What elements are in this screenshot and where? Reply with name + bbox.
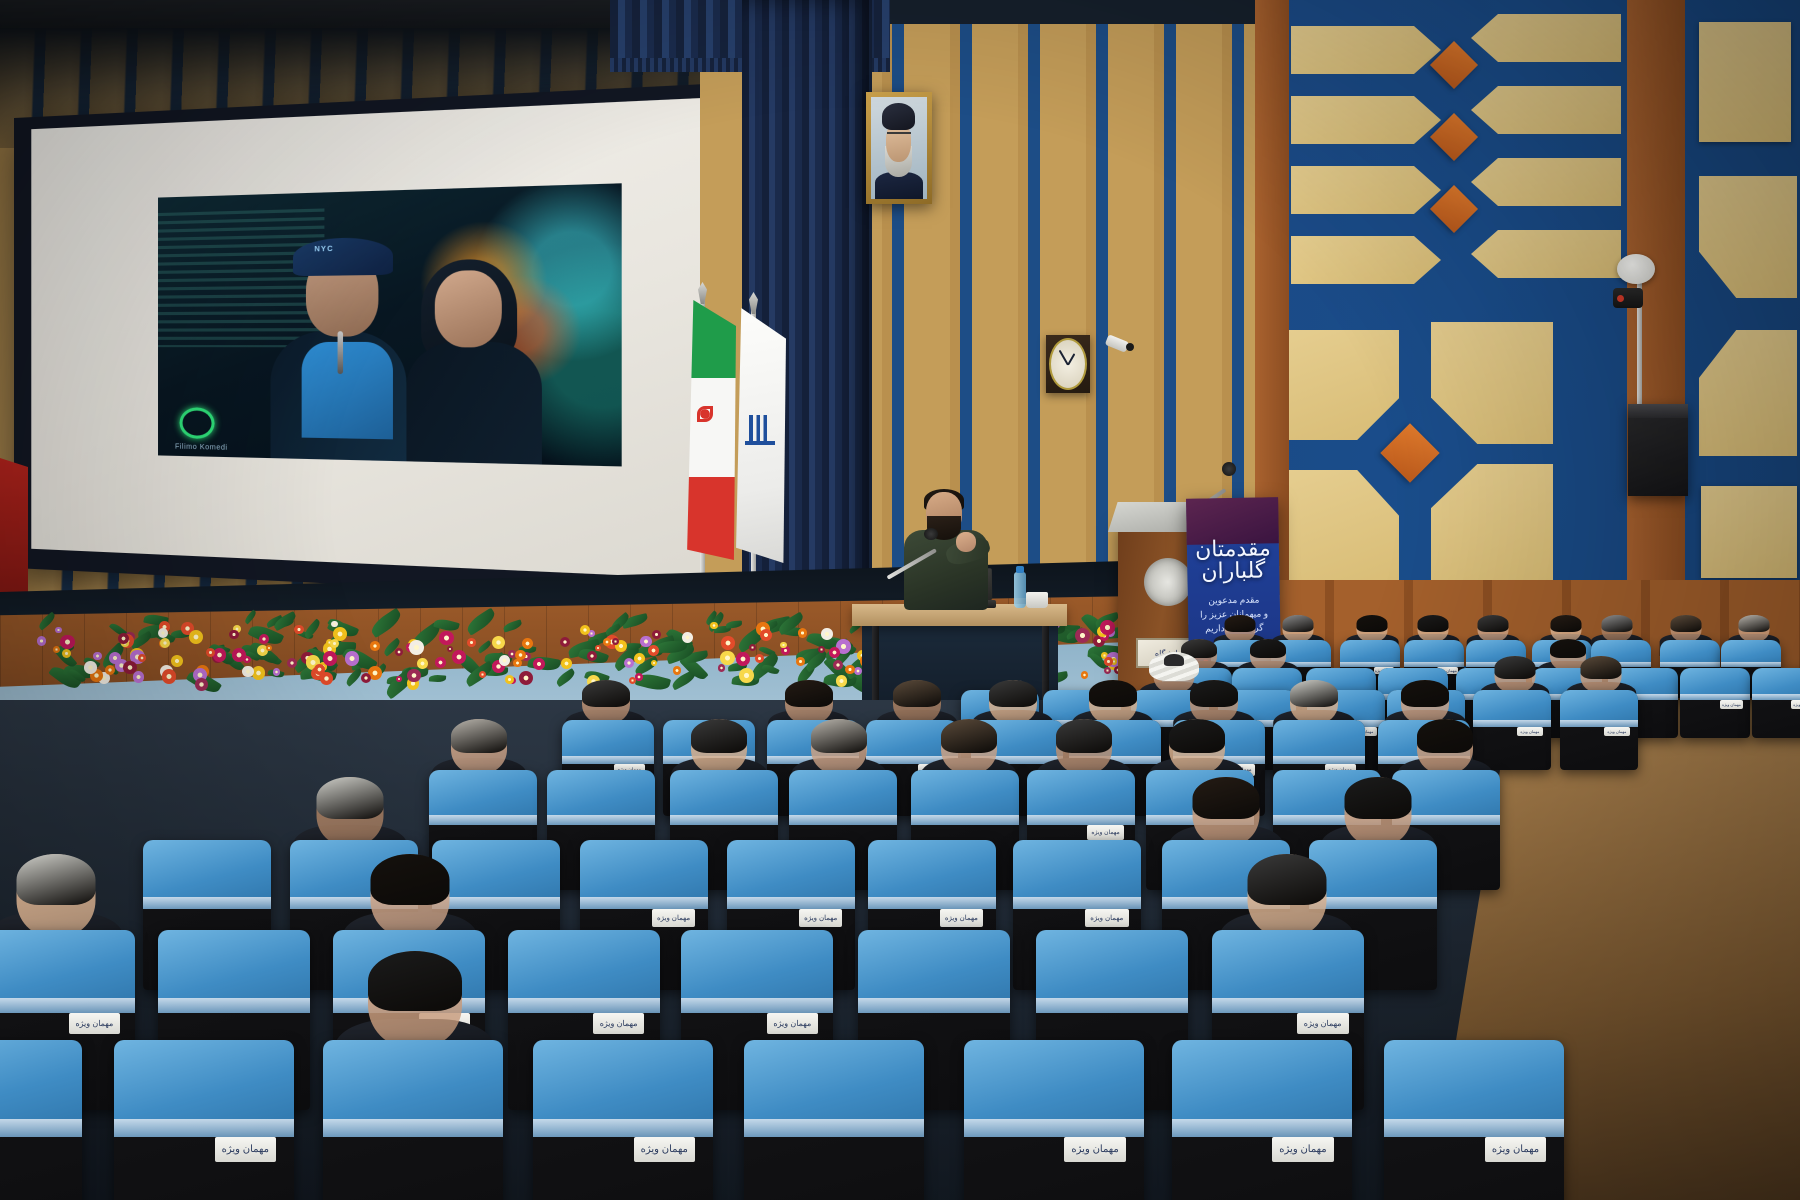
audience-seat[interactable]: مهمان ویژه <box>1560 690 1638 770</box>
garland-flower <box>1075 628 1090 643</box>
garland-flower <box>60 635 75 650</box>
garland-flower <box>243 656 250 663</box>
seat-cover <box>681 930 833 1013</box>
garland-leaf <box>726 620 743 628</box>
cap-logo-text: NYC <box>314 246 333 254</box>
garland-flower <box>492 636 505 649</box>
wall-panel <box>1291 26 1441 74</box>
garland-flower <box>624 658 634 668</box>
garland-flower <box>105 665 115 675</box>
seat-cover <box>580 840 708 909</box>
audience-hair <box>1671 615 1702 632</box>
seat-tag: مهمان ویژه <box>799 909 843 927</box>
garland-flower <box>1104 657 1112 665</box>
garland-flower <box>513 659 521 667</box>
screen-surface: NYC Filimo Komedi <box>31 97 730 580</box>
seat-cover <box>1212 930 1364 1013</box>
video-backdrop-stripes <box>158 208 324 347</box>
audience-hair <box>1550 615 1581 632</box>
audience-hair <box>1478 615 1509 632</box>
seat-cover <box>562 720 654 764</box>
seat-cover <box>1752 668 1800 700</box>
seat-tag: مهمان ویژه <box>1085 909 1129 927</box>
audience-hair <box>1417 615 1448 632</box>
logo-ring <box>179 407 214 439</box>
garland-flower <box>242 666 254 678</box>
audience-hair <box>1344 777 1411 820</box>
garland-flower <box>821 628 833 640</box>
seat-tag: مهمان ویژه <box>1272 1137 1333 1162</box>
garland-flower <box>395 648 403 656</box>
camera-body <box>1105 334 1130 352</box>
garland-flower <box>648 645 659 656</box>
audience-hair <box>811 719 867 753</box>
institution-flag <box>734 308 786 563</box>
garland-flower <box>294 625 303 634</box>
turban-cap <box>1164 654 1184 666</box>
garland-flower <box>118 633 129 644</box>
garland-flower <box>854 667 862 675</box>
audience-hair <box>317 777 384 820</box>
garland-leaf <box>429 674 446 682</box>
audience-hair <box>1169 719 1225 753</box>
seat-cover <box>429 770 537 825</box>
video-man-vest <box>302 342 393 439</box>
audience-hair <box>1417 719 1473 753</box>
audience-seat[interactable]: مهمان ویژه <box>1680 668 1750 738</box>
wall-panel <box>1291 236 1441 284</box>
wall-panel <box>1291 96 1441 144</box>
garland-leaf <box>243 610 258 625</box>
audience-hair <box>691 719 747 753</box>
audience-hair <box>371 854 450 905</box>
garland-leaf <box>368 608 404 638</box>
seat-cover <box>1680 668 1750 700</box>
seat-cover <box>547 770 655 825</box>
wifi-access-point-icon <box>1617 254 1655 284</box>
garland-flower <box>1081 671 1088 678</box>
seat-cover <box>1721 640 1781 667</box>
seat-cover <box>1013 840 1141 909</box>
garland-flower <box>407 669 420 682</box>
seat-cover <box>858 930 1010 1013</box>
audience-seat[interactable]: مهمان ویژه <box>964 1040 1144 1200</box>
garland-flower <box>833 660 843 670</box>
garland-flower <box>162 669 177 684</box>
garland-flower <box>718 664 726 672</box>
audience-hair <box>989 680 1037 707</box>
seat-cover <box>0 930 135 1013</box>
banner-sub-line: مقدم مدعوین <box>1192 593 1276 608</box>
audience-hair <box>785 680 833 707</box>
seat-cover <box>911 770 1019 825</box>
audience-hair <box>1580 656 1621 679</box>
audience-seat[interactable]: مهمان ویژه <box>533 1040 713 1200</box>
seat-cover <box>158 930 310 1013</box>
garland-flower <box>370 641 380 651</box>
seat-cover <box>1027 770 1135 825</box>
garland-flower <box>560 637 570 647</box>
seat-tag: مهمان ویژه <box>593 1013 645 1035</box>
garland-leaf <box>476 640 491 653</box>
camera-lens <box>1126 343 1134 351</box>
seat-tag: مهمان ویژه <box>1485 1137 1546 1162</box>
glasses-icon <box>887 132 912 140</box>
wall-panel <box>1471 230 1621 278</box>
audience-hair <box>1290 680 1338 707</box>
seat-tag: مهمان ویژه <box>1087 825 1124 839</box>
seat-cover <box>1404 640 1464 667</box>
seat-tag: مهمان ویژه <box>215 1137 276 1162</box>
garland-flower <box>417 658 428 669</box>
seat-cover <box>1340 640 1400 667</box>
garland-flower <box>760 629 772 641</box>
audience-seat[interactable]: مهمان ویژه <box>114 1040 294 1200</box>
garland-flower <box>195 678 208 691</box>
seat-cover <box>744 1040 924 1137</box>
mic-head <box>1222 462 1236 476</box>
projection-screen: NYC Filimo Komedi <box>14 82 746 604</box>
seat-cover <box>964 1040 1144 1137</box>
garland-flower <box>435 657 446 668</box>
seat-cover <box>508 930 660 1013</box>
clock-face <box>1049 338 1087 390</box>
right-wall <box>1255 0 1800 700</box>
audience-hair <box>1250 639 1286 659</box>
garland-flower <box>818 646 825 653</box>
audience-seat[interactable] <box>0 1040 82 1200</box>
wall-clock <box>1046 335 1090 393</box>
garland-leaf <box>464 607 498 636</box>
clock-minute-hand <box>1059 350 1069 366</box>
seat-cover <box>789 770 897 825</box>
garland-flower <box>1104 667 1112 675</box>
seat-cover <box>323 1040 503 1137</box>
garland-flower <box>287 658 297 668</box>
seat-tag: مهمان ویژه <box>1064 1137 1125 1162</box>
wall-panel <box>1431 464 1553 580</box>
seat-tag: مهمان ویژه <box>634 1137 695 1162</box>
audience-hair <box>1357 615 1388 632</box>
security-camera-icon <box>1613 288 1643 308</box>
video-watermark: Filimo Komedi <box>175 443 228 451</box>
speaker-top <box>1628 404 1688 418</box>
camera-indicator <box>1617 295 1624 302</box>
seat-cover <box>1273 720 1365 764</box>
garland-flower <box>499 655 510 666</box>
iran-emblem-icon <box>694 403 716 425</box>
garland-flower <box>84 661 97 674</box>
garland-flower <box>519 671 533 685</box>
garland-leaf <box>604 623 621 636</box>
auditorium-scene: NYC Filimo Komedi <box>0 0 1800 1200</box>
wall-panel <box>1699 22 1791 142</box>
audience-hair <box>1494 656 1535 679</box>
portrait-image <box>871 97 927 199</box>
garland-flower <box>710 622 717 629</box>
garland-flower <box>651 660 657 666</box>
garland-flower <box>796 657 805 666</box>
seat-tag: مهمان ویژه <box>767 1013 819 1035</box>
video-microphone <box>338 331 343 374</box>
seat-cover <box>727 840 855 909</box>
wall-panel <box>1699 176 1797 298</box>
seat-cover <box>143 840 271 909</box>
podium-emblem-icon <box>1144 558 1192 606</box>
framed-portrait <box>866 92 932 204</box>
bottle-cap <box>1016 566 1024 573</box>
seat-tag: مهمان ویژه <box>1517 727 1544 737</box>
audience-seat[interactable] <box>744 1040 924 1200</box>
garland-flower <box>1100 620 1115 635</box>
projected-video: NYC Filimo Komedi <box>158 183 622 466</box>
audience-hair <box>1056 719 1112 753</box>
garland-flower <box>829 647 840 658</box>
audience-hair <box>1247 854 1326 905</box>
garland-flower <box>273 668 281 676</box>
garland-flower <box>158 628 168 638</box>
seat-cover <box>1384 1040 1564 1137</box>
wall-speaker <box>1628 404 1688 496</box>
wall-panel <box>1431 322 1553 444</box>
wall-panel <box>1701 486 1797 578</box>
audience-hair <box>1089 680 1137 707</box>
audience-seat[interactable] <box>323 1040 503 1200</box>
garland-flower <box>798 628 808 638</box>
garland-flower <box>749 644 756 651</box>
red-flag <box>0 458 28 608</box>
wall-panel <box>1471 86 1621 134</box>
audience-hair <box>451 719 507 753</box>
seat-tag: مهمان ویژه <box>1604 727 1631 737</box>
seat-tag: مهمان ویژه <box>1791 700 1800 708</box>
audience-hair <box>893 680 941 707</box>
garland-flower <box>37 636 46 645</box>
garland-flower <box>109 652 121 664</box>
garland-flower <box>603 638 611 646</box>
garland-flower <box>439 631 453 645</box>
seat-cover <box>1036 930 1188 1013</box>
seat-tag: مهمان ویژه <box>1720 700 1744 708</box>
garland-flower <box>93 652 102 661</box>
audience-hair <box>16 854 95 905</box>
garland-flower <box>595 645 602 652</box>
seat-cover <box>670 770 778 825</box>
seat-tag: مهمان ویژه <box>1297 1013 1349 1035</box>
garland-flower <box>447 646 453 652</box>
wall-panel <box>1291 166 1441 214</box>
audience-hair <box>941 719 997 753</box>
garland-flower <box>739 668 754 683</box>
water-bottle <box>1014 572 1026 608</box>
audience-seat[interactable]: مهمان ویژه <box>1172 1040 1352 1200</box>
video-woman-face <box>435 270 502 347</box>
garland-flower <box>780 642 786 648</box>
garland-flower <box>612 638 619 645</box>
garland-flower <box>171 655 183 667</box>
wall-panel <box>1289 470 1399 590</box>
seat-cover <box>114 1040 294 1137</box>
seat-tag: مهمان ویژه <box>940 909 984 927</box>
presenter-hand <box>956 532 976 552</box>
garland-flower <box>189 630 203 644</box>
wall-diamond <box>1380 423 1439 482</box>
garland-flower <box>361 673 371 683</box>
audience-hair <box>1190 680 1238 707</box>
audience-hair <box>1224 615 1255 632</box>
garland-flower <box>160 638 170 648</box>
garland-flower <box>138 654 146 662</box>
audience-seat[interactable]: مهمان ویژه <box>1384 1040 1564 1200</box>
wall-panel <box>1699 330 1797 456</box>
audience-hair <box>1192 777 1259 820</box>
wall-panel <box>1289 330 1399 440</box>
garland-flower <box>721 636 735 650</box>
garland-flower <box>252 666 266 680</box>
garland-flower <box>55 627 62 634</box>
garland-flower <box>323 651 338 666</box>
garland-flower <box>515 650 526 661</box>
portrait-turban <box>882 103 914 130</box>
garland-flower <box>452 650 466 664</box>
wall-panel <box>1471 14 1621 62</box>
garland-flower <box>133 671 145 683</box>
garland-flower <box>206 648 215 657</box>
wall-panel <box>1471 158 1621 206</box>
garland-flower <box>652 630 661 639</box>
audience-hair <box>1283 615 1314 632</box>
presenter-microphone-head <box>924 528 938 540</box>
seat-cover <box>1660 640 1720 667</box>
institution-logo-icon <box>745 415 775 445</box>
seat-cover <box>1560 690 1638 727</box>
seat-cover <box>533 1040 713 1137</box>
video-woman-body <box>407 342 542 465</box>
seat-cover <box>1172 1040 1352 1137</box>
audience-hair <box>1602 615 1633 632</box>
presenter <box>900 492 992 610</box>
seat-tag: مهمان ویژه <box>652 909 696 927</box>
garland-flower <box>229 630 239 640</box>
audience-hair <box>1738 615 1769 632</box>
banner-title: مقدمتان گلباران <box>1191 537 1276 582</box>
garland-flower <box>53 646 60 653</box>
garland-flower <box>409 640 424 655</box>
audience-hair <box>1401 680 1449 707</box>
seat-cover <box>0 1040 82 1137</box>
garland-flower <box>533 658 545 670</box>
channel-logo-icon <box>179 407 214 439</box>
garland-flower <box>467 638 476 647</box>
audience-hair <box>368 951 462 1011</box>
garland-flower <box>345 651 359 665</box>
paper-cups <box>1026 592 1048 608</box>
garland-flower <box>673 666 682 675</box>
audience-seat[interactable]: مهمان ویژه <box>1752 668 1800 738</box>
garland-leaf <box>503 619 523 632</box>
garland-flower <box>634 653 645 664</box>
cleric-turban <box>1149 652 1199 681</box>
garland-flower <box>736 652 750 666</box>
garland-flower <box>479 671 486 678</box>
garland-flower <box>682 632 693 643</box>
seat-tag: مهمان ویژه <box>69 1013 121 1035</box>
security-camera-icon <box>1106 338 1134 350</box>
seat-cover <box>868 840 996 909</box>
audience-hair <box>582 680 630 707</box>
